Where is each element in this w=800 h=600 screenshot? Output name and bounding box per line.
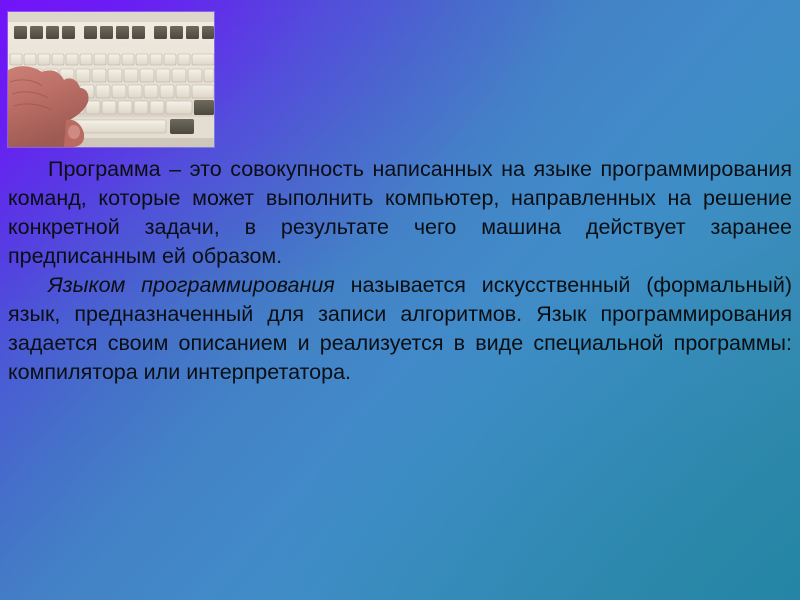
- paragraph-program-definition: Программа – это совокупность написанных …: [8, 155, 792, 271]
- paragraph1-text: Программа – это совокупность написанных …: [8, 157, 792, 268]
- paragraph-language-definition: Языком программирования называется искус…: [8, 271, 792, 387]
- slide-body-text: Программа – это совокупность написанных …: [8, 155, 792, 387]
- presentation-slide: Программа – это совокупность написанных …: [0, 0, 800, 600]
- keyboard-photo-illustration: [8, 12, 214, 147]
- italic-term-programming-language: Языком программирования: [48, 273, 335, 297]
- keyboard-photo: [8, 12, 214, 147]
